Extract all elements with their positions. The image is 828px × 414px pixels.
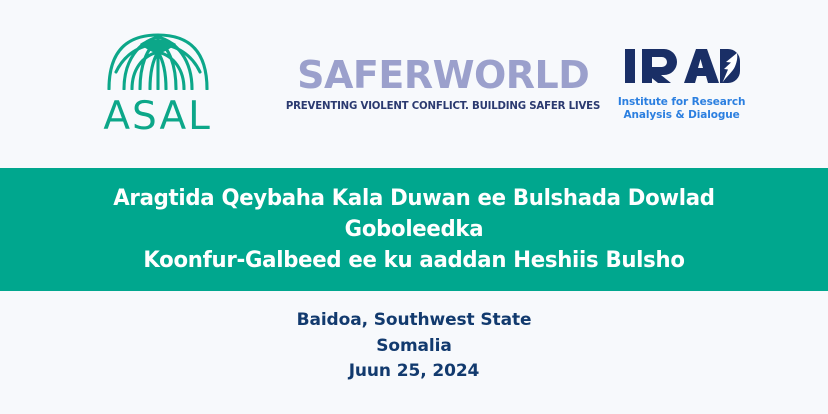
irad-subtitle-line1: Institute for Research [618, 96, 746, 108]
logo-irad: Institute for Research Analysis & Dialog… [605, 46, 758, 122]
logo-saferworld: SAFERWORLD PREVENTING VIOLENT CONFLICT. … [281, 56, 605, 112]
asal-wordmark: ASAL [103, 97, 212, 136]
date-line: Juun 25, 2024 [349, 359, 480, 385]
page-title-line1: Aragtida Qeybaha Kala Duwan ee Bulshada … [113, 186, 714, 242]
location-date-block: Baidoa, Southwest State Somalia Juun 25,… [0, 291, 828, 414]
irad-subtitle-line2: Analysis & Dialogue [624, 109, 740, 121]
irad-wordmark-icon [624, 46, 740, 91]
irad-subtitle: Institute for Research Analysis & Dialog… [618, 96, 746, 122]
page-title: Aragtida Qeybaha Kala Duwan ee Bulshada … [57, 183, 771, 277]
saferworld-tagline: PREVENTING VIOLENT CONFLICT. BUILDING SA… [286, 101, 600, 112]
page-title-line2: Koonfur-Galbeed ee ku aaddan Heshiis Bul… [143, 248, 684, 273]
saferworld-wordmark: SAFERWORLD [297, 56, 589, 94]
location-line: Baidoa, Southwest State [297, 308, 532, 334]
logo-bar: ASAL SAFERWORLD PREVENTING VIOLENT CONFL… [0, 0, 828, 168]
title-banner: Aragtida Qeybaha Kala Duwan ee Bulshada … [0, 168, 828, 291]
title-slide: ASAL SAFERWORLD PREVENTING VIOLENT CONFL… [0, 0, 828, 414]
logo-asal: ASAL [86, 32, 229, 136]
asal-dome-lattice-icon [106, 32, 210, 95]
country-line: Somalia [376, 334, 452, 360]
